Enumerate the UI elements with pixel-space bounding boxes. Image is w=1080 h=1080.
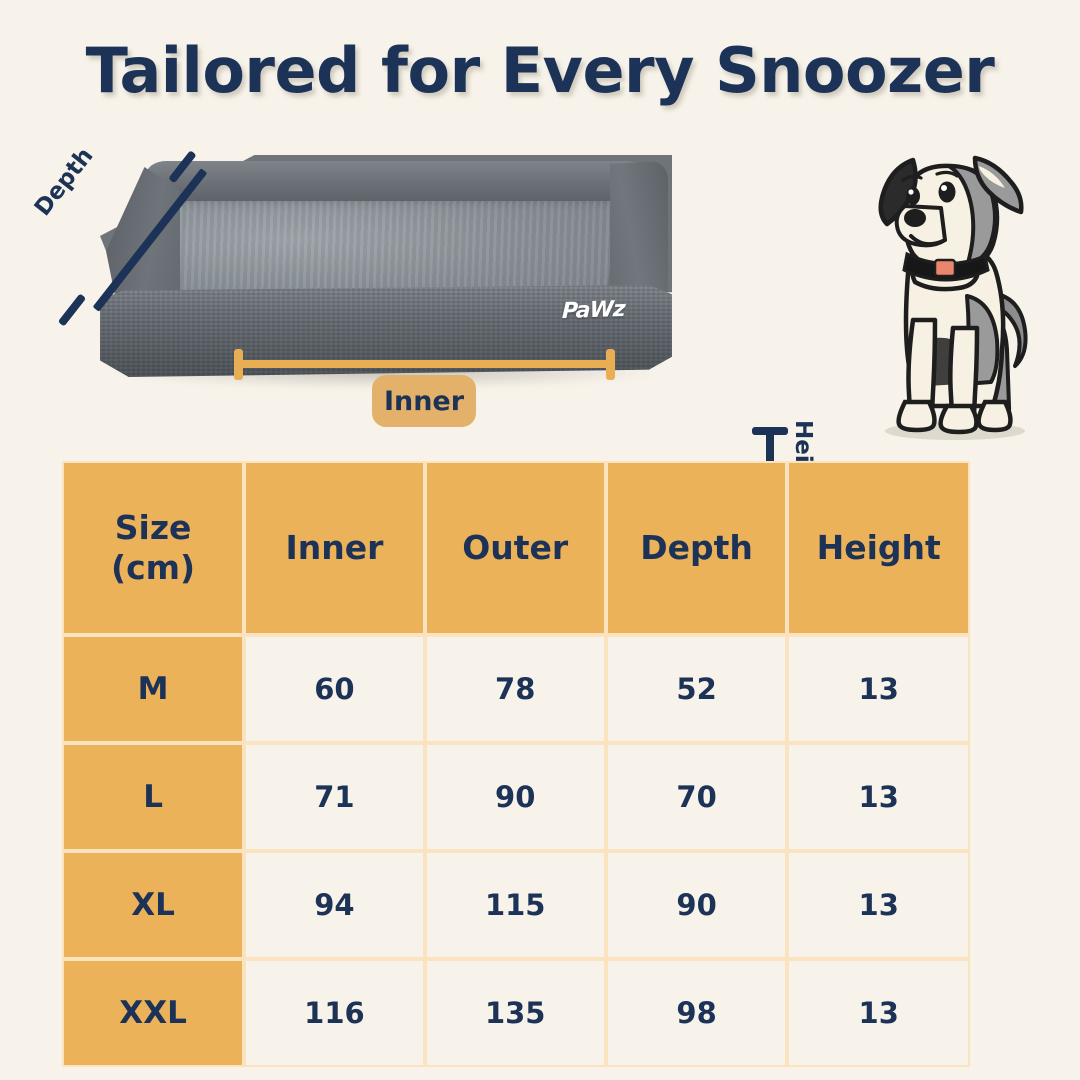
column-header-size-line1: Size <box>65 508 241 548</box>
cell-outer: 115 <box>425 851 606 959</box>
inner-measure-cap-left <box>234 349 243 380</box>
inner-measure-line <box>237 360 613 368</box>
cell-size: L <box>62 743 244 851</box>
column-header-height: Height <box>787 461 970 635</box>
cell-depth: 70 <box>606 743 788 851</box>
column-header-inner: Inner <box>244 461 424 635</box>
cell-size: XXL <box>62 959 244 1067</box>
cell-inner: 71 <box>244 743 424 851</box>
cell-height: 13 <box>787 743 970 851</box>
column-header-depth: Depth <box>606 461 788 635</box>
cell-outer: 90 <box>425 743 606 851</box>
cell-height: 13 <box>787 851 970 959</box>
table-row: XXL 116 135 98 13 <box>62 959 970 1067</box>
dog-illustration <box>848 140 1062 440</box>
column-header-outer: Outer <box>425 461 606 635</box>
cell-inner: 116 <box>244 959 424 1067</box>
cell-outer: 78 <box>425 635 606 743</box>
table-row: M 60 78 52 13 <box>62 635 970 743</box>
inner-label-badge: Inner <box>372 375 476 427</box>
cell-inner: 60 <box>244 635 424 743</box>
depth-measure-group: Depth <box>48 148 248 338</box>
cell-outer: 135 <box>425 959 606 1067</box>
bed-bolster-right <box>610 161 668 303</box>
table-row: XL 94 115 90 13 <box>62 851 970 959</box>
depth-measure-cap-bottom <box>58 293 86 326</box>
table-header: Size (cm) Inner Outer Depth Height <box>62 461 970 635</box>
size-chart-table: Size (cm) Inner Outer Depth Height M 60 … <box>62 461 970 1067</box>
cell-inner: 94 <box>244 851 424 959</box>
height-measure-cap-top <box>752 427 788 435</box>
depth-label: Depth <box>30 143 99 221</box>
column-header-size: Size (cm) <box>62 461 244 635</box>
cell-depth: 98 <box>606 959 788 1067</box>
infographic-canvas: Tailored for Every Snoozer <box>0 0 1080 1080</box>
cell-size: M <box>62 635 244 743</box>
table-header-row: Size (cm) Inner Outer Depth Height <box>62 461 970 635</box>
cell-height: 13 <box>787 959 970 1067</box>
column-header-size-line2: (cm) <box>65 548 241 588</box>
inner-measure-cap-right <box>606 349 615 380</box>
table-body: M 60 78 52 13 L 71 90 70 13 XL 94 115 90… <box>62 635 970 1067</box>
cell-depth: 52 <box>606 635 788 743</box>
dog-icon <box>848 140 1062 440</box>
table-row: L 71 90 70 13 <box>62 743 970 851</box>
cell-size: XL <box>62 851 244 959</box>
depth-measure-line <box>93 168 208 312</box>
cell-depth: 90 <box>606 851 788 959</box>
product-diagram: PaWz Inner Outer Height Depth <box>0 130 1080 460</box>
cell-height: 13 <box>787 635 970 743</box>
pawz-brand-logo: PaWz <box>562 297 625 324</box>
page-title: Tailored for Every Snoozer <box>0 34 1080 107</box>
